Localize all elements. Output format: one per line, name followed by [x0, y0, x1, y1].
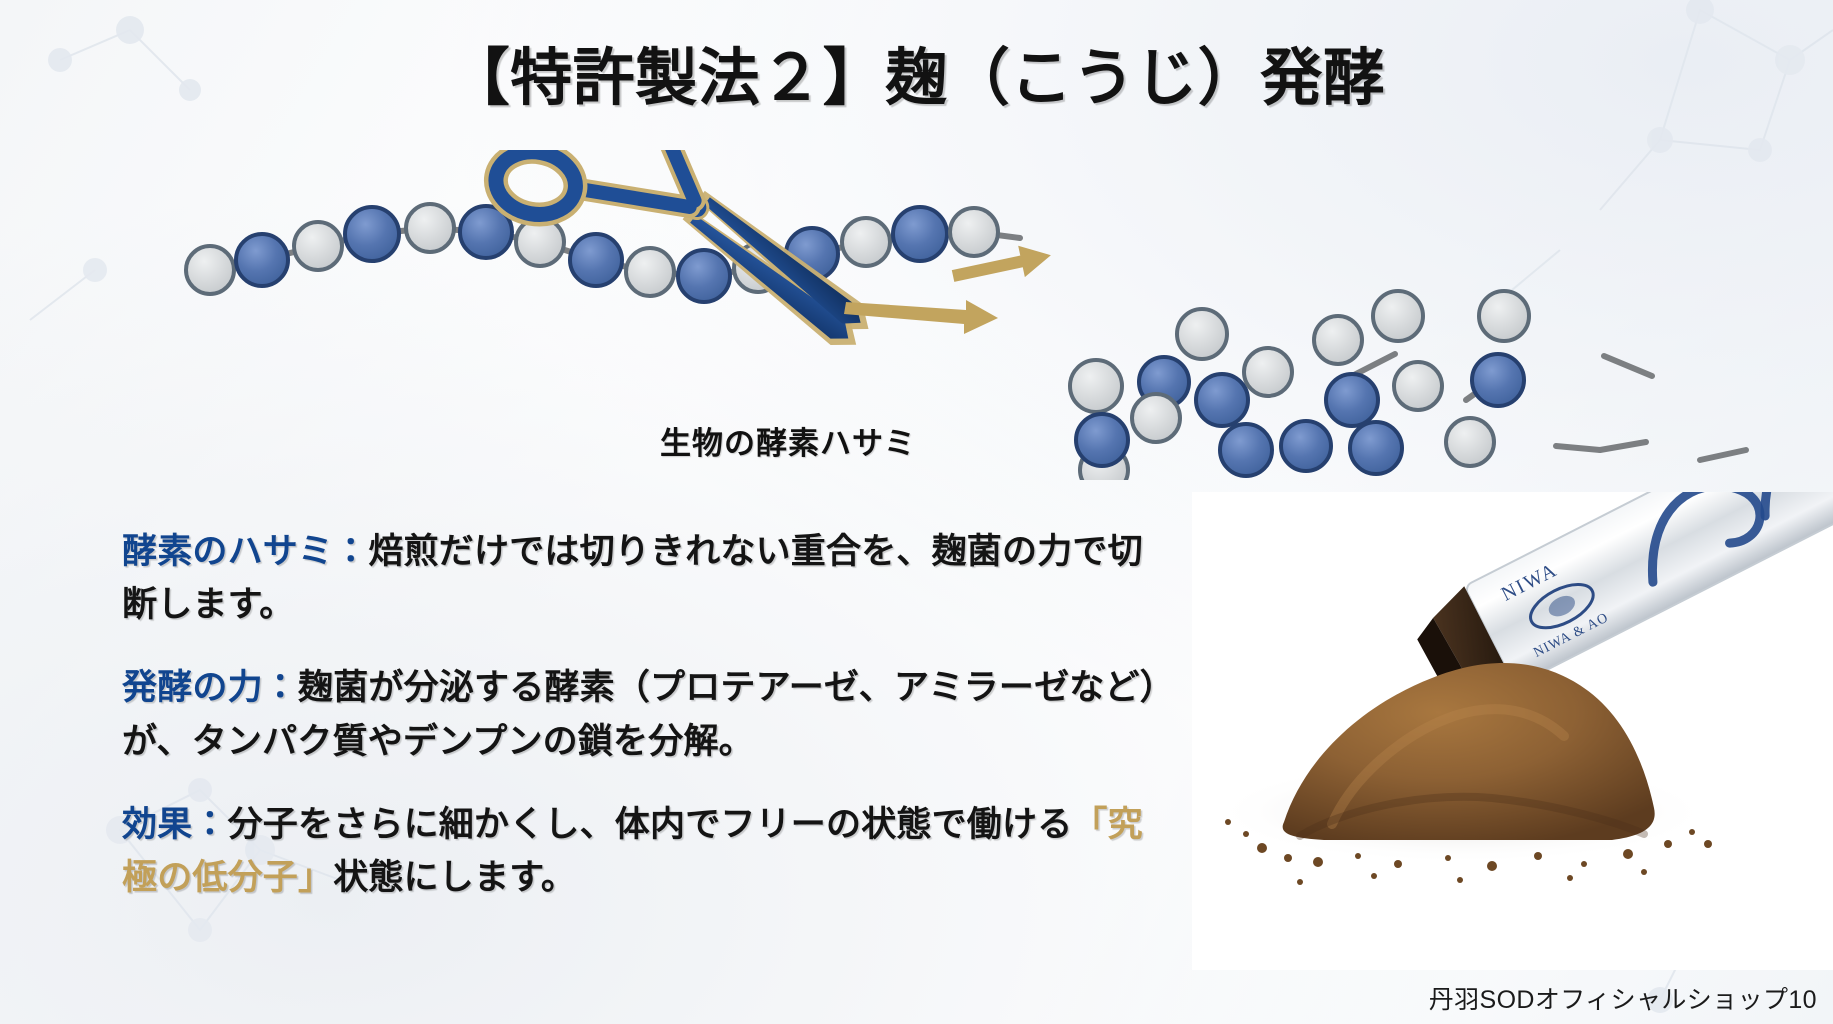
product-powder-photo: NIWA NIWA & AO [1192, 492, 1833, 970]
paragraph-body-3a: 分子をさらに細かくし、体内でフリーの状態で働ける [228, 805, 1073, 844]
paragraph-body-3b: 状態にします。 [333, 858, 576, 897]
paragraph-lead-2: 発酵の力： [122, 668, 298, 707]
footer-watermark: 丹羽SODオフィシャルショップ10 [1429, 980, 1817, 1016]
scissors-label: 生物の酵素ハサミ [660, 418, 916, 463]
enzyme-cleavage-diagram [0, 150, 1833, 480]
paragraph-fermentation-power: 発酵の力：麹菌が分泌する酵素（プロテアーゼ、アミラーゼなど）が、タンパク質やデン… [122, 661, 1167, 767]
paragraph-lead-3: 効果： [122, 805, 228, 844]
slide-root: 【特許製法２】麹（こうじ）発酵 [0, 0, 1833, 1024]
page-title: 【特許製法２】麹（こうじ）発酵 [0, 46, 1833, 113]
paragraph-enzyme-scissors: 酵素のハサミ：焙煎だけでは切りきれない重合を、麹菌の力で切断します。 [122, 525, 1167, 631]
polymer-chain-icon [186, 204, 1020, 302]
molecule-fragments-icon [1070, 291, 1746, 480]
paragraph-lead-1: 酵素のハサミ： [122, 532, 368, 571]
body-copy: 酵素のハサミ：焙煎だけでは切りきれない重合を、麹菌の力で切断します。 発酵の力：… [122, 525, 1167, 904]
paragraph-effect: 効果：分子をさらに細かくし、体内でフリーの状態で働ける「究極の低分子」状態にしま… [122, 798, 1167, 904]
